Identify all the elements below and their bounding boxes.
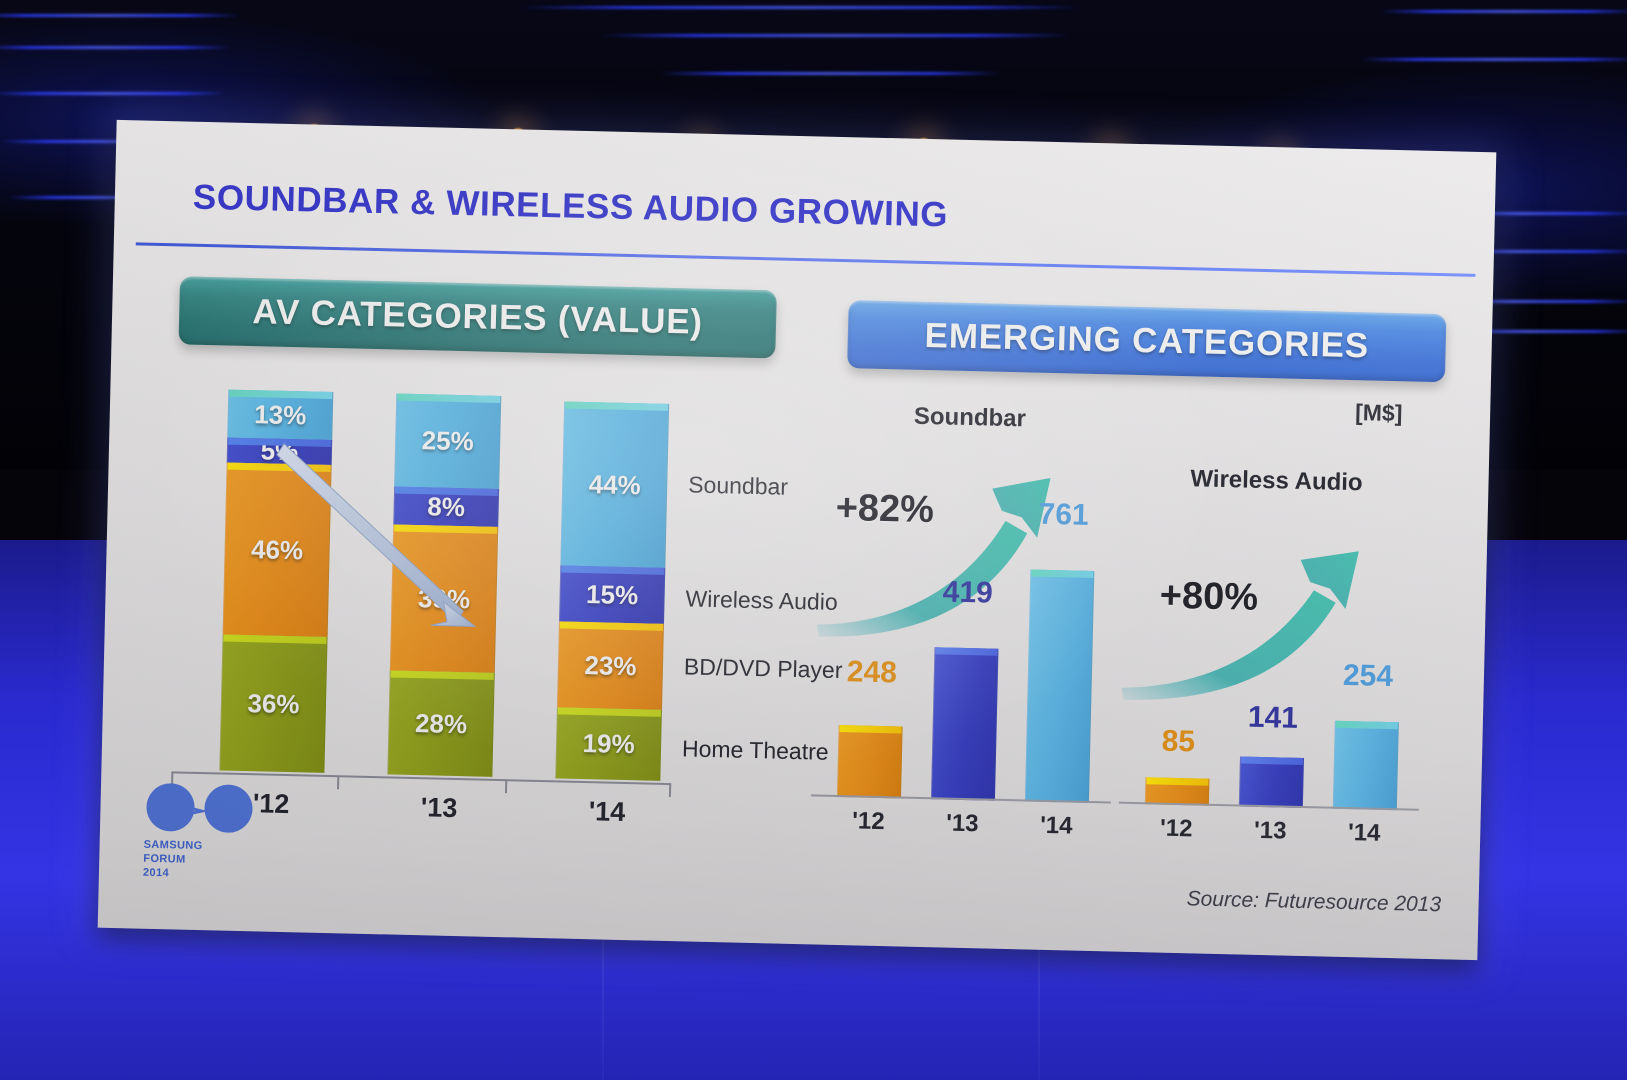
- light-streak: [1380, 10, 1627, 13]
- light-streak: [520, 6, 1080, 9]
- title-divider: [136, 242, 1476, 277]
- segment-wireless-13: 8%: [393, 486, 499, 526]
- soundbar-x-label-13: '13: [930, 809, 995, 839]
- soundbar-bar-14: [1025, 570, 1094, 803]
- segment-hometheatre-12: 36%: [219, 634, 327, 772]
- axis-tick: [337, 776, 339, 789]
- panel-header-av-categories: AV CATEGORIES (VALUE): [178, 276, 776, 358]
- x-label-13: '13: [386, 791, 492, 824]
- segment-bddvd-14: 23%: [557, 621, 664, 709]
- segment-hometheatre-14: 19%: [555, 707, 662, 780]
- logo-text-line2: FORUM: [143, 852, 202, 867]
- segment-soundbar-12: 13%: [227, 390, 333, 440]
- source-note: Source: Futuresource 2013: [1186, 887, 1441, 917]
- wireless-bar-13: [1239, 756, 1304, 807]
- segment-soundbar-14: 44%: [560, 401, 669, 567]
- axis-tick: [505, 780, 507, 793]
- stage-scene: SOUNDBAR & WIRELESS AUDIO GROWING AV CAT…: [0, 0, 1627, 1080]
- samsung-forum-logo: SAMSUNG FORUM 2014: [141, 783, 263, 886]
- soundbar-value-13: 419: [927, 575, 1008, 611]
- segment-wireless-14: 15%: [559, 565, 665, 623]
- soundbar-bar-13: [931, 647, 999, 800]
- stacked-bar-13: 25% 8% 39% 28%: [387, 394, 501, 777]
- segment-bddvd-12: 46%: [223, 463, 332, 637]
- soundbar-bar-12: [837, 725, 903, 798]
- segment-hometheatre-13: 28%: [387, 670, 494, 776]
- light-streak: [600, 34, 1070, 37]
- wireless-growth-label: +80%: [1159, 575, 1258, 620]
- panel-header-emerging-categories: EMERGING CATEGORIES: [847, 300, 1446, 382]
- light-streak: [0, 92, 225, 95]
- light-streak: [0, 46, 230, 49]
- soundbar-value-14: 761: [1023, 497, 1104, 533]
- legend-soundbar: Soundbar: [688, 471, 788, 500]
- soundbar-value-12: 248: [832, 655, 913, 691]
- wireless-x-label-13: '13: [1238, 816, 1303, 846]
- light-streak: [1360, 58, 1627, 61]
- wireless-value-13: 141: [1233, 700, 1314, 736]
- axis-tick: [669, 784, 671, 797]
- wireless-x-label-12: '12: [1144, 814, 1209, 844]
- emerging-categories-charts: Soundbar +82% 248 419 761: [800, 372, 1451, 857]
- slide-title: SOUNDBAR & WIRELESS AUDIO GROWING: [192, 178, 948, 236]
- logo-circle-left: [146, 783, 195, 832]
- av-categories-stacked-chart: 13% 5% 46% 36% 25% 8% 39% 28% 44% 15% 23…: [170, 357, 781, 831]
- logo-text-line3: 2014: [143, 866, 202, 881]
- segment-bddvd-13: 39%: [390, 524, 498, 672]
- wireless-bar-14: [1333, 721, 1399, 810]
- soundbar-x-label-12: '12: [836, 807, 901, 837]
- logo-text: SAMSUNG FORUM 2014: [143, 839, 203, 882]
- soundbar-x-label-14: '14: [1024, 811, 1089, 841]
- presentation-slide: SOUNDBAR & WIRELESS AUDIO GROWING AV CAT…: [98, 120, 1497, 960]
- logo-circle-right: [204, 784, 253, 833]
- soundbar-bar-chart: Soundbar +82% 248 419 761: [811, 417, 1120, 804]
- wireless-chart-title: Wireless Audio: [1126, 464, 1427, 499]
- segment-wireless-12: 5%: [227, 438, 333, 465]
- wireless-value-12: 85: [1138, 724, 1219, 760]
- x-label-14: '14: [554, 795, 660, 828]
- wireless-x-label-14: '14: [1332, 819, 1397, 849]
- stacked-bar-14: 44% 15% 23% 19%: [555, 401, 669, 780]
- soundbar-chart-title: Soundbar: [820, 401, 1121, 436]
- stacked-bar-12: 13% 5% 46% 36%: [219, 390, 333, 773]
- logo-text-line1: SAMSUNG: [143, 839, 202, 854]
- light-streak: [660, 72, 1000, 75]
- wireless-audio-bar-chart: Wireless Audio +80% 85 141 254 '12 '13 '…: [1119, 424, 1428, 811]
- soundbar-growth-label: +82%: [835, 487, 934, 532]
- segment-soundbar-13: 25%: [394, 394, 501, 489]
- light-streak: [0, 14, 240, 17]
- wireless-value-14: 254: [1328, 659, 1409, 695]
